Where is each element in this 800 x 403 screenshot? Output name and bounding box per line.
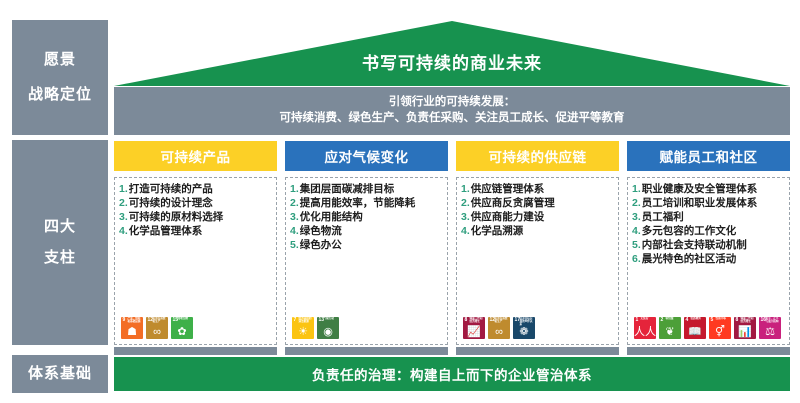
list-item-label: 多元包容的工作文化 <box>642 225 786 238</box>
list-item-label: 内部社会支持联动机制 <box>642 239 786 252</box>
pedestal-block <box>114 347 277 355</box>
list-item: 2.员工培训和职业发展体系 <box>632 197 786 210</box>
sdg-number: 9 <box>123 317 126 323</box>
list-item-number: 1. <box>290 183 299 196</box>
list-item-number: 2. <box>461 197 470 210</box>
sdg-glyph-icon: 📖 <box>684 327 706 338</box>
sdg-title: 陆地生物 <box>178 318 193 321</box>
sdg-title: 优质教育 <box>691 318 706 321</box>
list-item-number: 1. <box>632 183 641 196</box>
sdg-title: 体面工作和经济增长 <box>741 318 756 324</box>
label-pillars-line2: 支柱 <box>44 250 76 267</box>
list-item-number: 4. <box>461 225 470 238</box>
sdg-icon-row: 1无贫穷人人2零饥饿❦4优质教育📖5性别平等⚥8体面工作和经济增长📊16和平、正… <box>632 315 786 341</box>
list-item-label: 供应链管理体系 <box>471 183 615 196</box>
list-item-label: 晨光特色的社区活动 <box>642 253 786 266</box>
sdg-7-icon: 7经济适用的清洁能源☀ <box>292 317 314 339</box>
sdg-16-icon: 16和平、正义与强大机构⚖ <box>759 317 781 339</box>
list-item-number: 6. <box>632 253 641 266</box>
foundation-bar: 负责任的治理：构建自上而下的企业管治体系 <box>114 357 790 391</box>
list-item: 4.化学品溯源 <box>461 225 615 238</box>
sdg-glyph-icon: ⚖ <box>759 327 781 338</box>
list-item-label: 供应商能力建设 <box>471 211 615 224</box>
sdg-glyph-icon: ❦ <box>659 327 681 338</box>
strategy-band: 引领行业的可持续发展： 可持续消费、绿色生产、负责任采购、关注员工成长、促进平等… <box>114 87 790 135</box>
sdg-title: 气候行动 <box>324 318 339 321</box>
pillar-body-1: 1.打造可持续的产品2.可持续的设计理念3.可持续的原材料选择4.化学品管理体系… <box>114 177 277 345</box>
pillar-item-list: 1.职业健康及安全管理体系2.员工培训和职业发展体系3.员工福利4.多元包容的工… <box>632 183 786 315</box>
sdg-glyph-icon: ❁ <box>513 327 535 338</box>
sdg-1-icon: 1无贫穷人人 <box>634 317 656 339</box>
list-item-number: 4. <box>632 225 641 238</box>
pedestal-block <box>285 347 448 355</box>
list-item: 5.内部社会支持联动机制 <box>632 239 786 252</box>
list-item: 3.供应商能力建设 <box>461 211 615 224</box>
sdg-glyph-icon: 📈 <box>463 327 485 338</box>
list-item: 2.供应商反贪腐管理 <box>461 197 615 210</box>
list-item-label: 集团层面碳减排目标 <box>300 183 444 196</box>
sdg-glyph-icon: ∞ <box>146 327 168 338</box>
pillar-item-list: 1.打造可持续的产品2.可持续的设计理念3.可持续的原材料选择4.化学品管理体系 <box>119 183 273 315</box>
sdg-title: 体面工作和经济增长 <box>470 318 485 324</box>
pillar-header-3[interactable]: 可持续的供应链 <box>456 141 619 171</box>
list-item: 1.供应链管理体系 <box>461 183 615 196</box>
list-item-label: 优化用能结构 <box>300 211 444 224</box>
list-item-number: 2. <box>632 197 641 210</box>
label-pillars-line1: 四大 <box>44 219 76 236</box>
sdg-5-icon: 5性别平等⚥ <box>709 317 731 339</box>
list-item-label: 绿色办公 <box>300 239 444 252</box>
pillar-item-list: 1.集团层面碳减排目标2.提高用能效率，节能降耗3.优化用能结构4.绿色物流5.… <box>290 183 444 315</box>
list-item: 1.职业健康及安全管理体系 <box>632 183 786 196</box>
list-item-number: 1. <box>461 183 470 196</box>
list-item-label: 员工福利 <box>642 211 786 224</box>
sdg-12-icon: 12负责任消费和生产∞ <box>146 317 168 339</box>
list-item-label: 化学品管理体系 <box>129 225 273 238</box>
sdg-glyph-icon: ☀ <box>292 327 314 338</box>
sdg-8-icon: 8体面工作和经济增长📊 <box>734 317 756 339</box>
sdg-15-icon: 15陆地生物✿ <box>171 317 193 339</box>
pedestal-block <box>456 347 619 355</box>
sdg-number: 8 <box>465 317 468 323</box>
list-item-label: 可持续的原材料选择 <box>129 211 273 224</box>
list-item-number: 4. <box>119 225 128 238</box>
pedestal-row <box>114 347 790 355</box>
list-item-label: 打造可持续的产品 <box>129 183 273 196</box>
sdg-glyph-icon: ◉ <box>317 327 339 338</box>
list-item-label: 绿色物流 <box>300 225 444 238</box>
list-item-number: 3. <box>290 211 299 224</box>
sdg-4-icon: 4优质教育📖 <box>684 317 706 339</box>
sdg-title: 产业、创新和基础设施 <box>128 318 143 324</box>
sdg-icon-row: 9产业、创新和基础设施☗12负责任消费和生产∞15陆地生物✿ <box>119 315 273 341</box>
sdg-glyph-icon: 📊 <box>734 327 756 338</box>
pillar-header-2[interactable]: 应对气候变化 <box>285 141 448 171</box>
list-item: 4.化学品管理体系 <box>119 225 273 238</box>
list-item-number: 2. <box>290 197 299 210</box>
list-item: 3.优化用能结构 <box>290 211 444 224</box>
list-item-number: 2. <box>119 197 128 210</box>
list-item-label: 员工培训和职业发展体系 <box>642 197 786 210</box>
list-item: 2.提高用能效率，节能降耗 <box>290 197 444 210</box>
sdg-number: 4 <box>686 317 689 323</box>
list-item-label: 化学品溯源 <box>471 225 615 238</box>
left-label-system-foundation: 体系基础 <box>12 355 108 393</box>
sdg-12-icon: 12负责任消费和生产∞ <box>488 317 510 339</box>
list-item: 2.可持续的设计理念 <box>119 197 273 210</box>
list-item: 6.晨光特色的社区活动 <box>632 253 786 266</box>
pillar-header-4[interactable]: 赋能员工和社区 <box>627 141 790 171</box>
sdg-title: 负责任消费和生产 <box>495 318 510 324</box>
list-item: 4.绿色物流 <box>290 225 444 238</box>
list-item: 3.可持续的原材料选择 <box>119 211 273 224</box>
list-item-number: 5. <box>290 239 299 252</box>
pillar-3[interactable]: 可持续的供应链1.供应链管理体系2.供应商反贪腐管理3.供应商能力建设4.化学品… <box>456 141 619 345</box>
sdg-title: 经济适用的清洁能源 <box>299 318 314 324</box>
list-item: 4.多元包容的工作文化 <box>632 225 786 238</box>
sustainability-framework-diagram: 愿景 战略定位 四大 支柱 体系基础 书写可持续的商业未来 引领行业的可持续发展… <box>0 0 800 403</box>
pillar-item-list: 1.供应链管理体系2.供应商反贪腐管理3.供应商能力建设4.化学品溯源 <box>461 183 615 315</box>
sdg-number: 5 <box>711 317 714 323</box>
sdg-glyph-icon: ∞ <box>488 327 510 338</box>
list-item-number: 3. <box>119 211 128 224</box>
sdg-title: 性别平等 <box>716 318 731 321</box>
sdg-8-icon: 8体面工作和经济增长📈 <box>463 317 485 339</box>
sdg-icon-row: 7经济适用的清洁能源☀13气候行动◉ <box>290 315 444 341</box>
pillar-2[interactable]: 应对气候变化1.集团层面碳减排目标2.提高用能效率，节能降耗3.优化用能结构4.… <box>285 141 448 345</box>
sdg-glyph-icon: ☗ <box>121 327 143 338</box>
vision-title: 书写可持续的商业未来 <box>114 47 790 75</box>
left-label-vision-strategy: 愿景 战略定位 <box>12 20 108 135</box>
list-item-label: 职业健康及安全管理体系 <box>642 183 786 196</box>
label-strategy: 战略定位 <box>28 87 92 104</box>
pillars-row: 可持续产品1.打造可持续的产品2.可持续的设计理念3.可持续的原材料选择4.化学… <box>114 141 790 345</box>
pillar-body-4: 1.职业健康及安全管理体系2.员工培训和职业发展体系3.员工福利4.多元包容的工… <box>627 177 790 345</box>
strategy-line-1: 引领行业的可持续发展： <box>389 95 516 111</box>
list-item-label: 提高用能效率，节能降耗 <box>300 197 444 210</box>
sdg-icon-row: 8体面工作和经济增长📈12负责任消费和生产∞17促进目标实现的伙伴关系❁ <box>461 315 615 341</box>
pillar-1[interactable]: 可持续产品1.打造可持续的产品2.可持续的设计理念3.可持续的原材料选择4.化学… <box>114 141 277 345</box>
list-item: 1.集团层面碳减排目标 <box>290 183 444 196</box>
sdg-number: 7 <box>294 317 297 323</box>
sdg-9-icon: 9产业、创新和基础设施☗ <box>121 317 143 339</box>
sdg-glyph-icon: 人人 <box>634 327 656 338</box>
sdg-number: 2 <box>661 317 664 323</box>
sdg-title: 负责任消费和生产 <box>153 318 168 324</box>
sdg-title: 无贫穷 <box>641 318 656 321</box>
list-item-label: 可持续的设计理念 <box>129 197 273 210</box>
pillar-header-1[interactable]: 可持续产品 <box>114 141 277 171</box>
sdg-number: 1 <box>636 317 639 323</box>
list-item-number: 4. <box>290 225 299 238</box>
sdg-glyph-icon: ⚥ <box>709 327 731 338</box>
list-item-number: 3. <box>461 211 470 224</box>
sdg-title: 零饥饿 <box>666 318 681 321</box>
sdg-title: 和平、正义与强大机构 <box>766 318 781 324</box>
list-item-label: 供应商反贪腐管理 <box>471 197 615 210</box>
list-item-number: 1. <box>119 183 128 196</box>
pillar-body-2: 1.集团层面碳减排目标2.提高用能效率，节能降耗3.优化用能结构4.绿色物流5.… <box>285 177 448 345</box>
sdg-2-icon: 2零饥饿❦ <box>659 317 681 339</box>
pedestal-block <box>627 347 790 355</box>
sdg-glyph-icon: ✿ <box>171 327 193 338</box>
strategy-line-2: 可持续消费、绿色生产、负责任采购、关注员工成长、促进平等教育 <box>280 111 625 127</box>
sdg-13-icon: 13气候行动◉ <box>317 317 339 339</box>
sdg-number: 8 <box>736 317 739 323</box>
list-item-number: 5. <box>632 239 641 252</box>
list-item: 5.绿色办公 <box>290 239 444 252</box>
label-base: 体系基础 <box>28 366 92 383</box>
list-item: 1.打造可持续的产品 <box>119 183 273 196</box>
label-vision: 愿景 <box>44 52 76 69</box>
pillar-body-3: 1.供应链管理体系2.供应商反贪腐管理3.供应商能力建设4.化学品溯源8体面工作… <box>456 177 619 345</box>
sdg-17-icon: 17促进目标实现的伙伴关系❁ <box>513 317 535 339</box>
left-label-four-pillars: 四大 支柱 <box>12 140 108 345</box>
list-item: 3.员工福利 <box>632 211 786 224</box>
pillar-4[interactable]: 赋能员工和社区1.职业健康及安全管理体系2.员工培训和职业发展体系3.员工福利4… <box>627 141 790 345</box>
list-item-number: 3. <box>632 211 641 224</box>
